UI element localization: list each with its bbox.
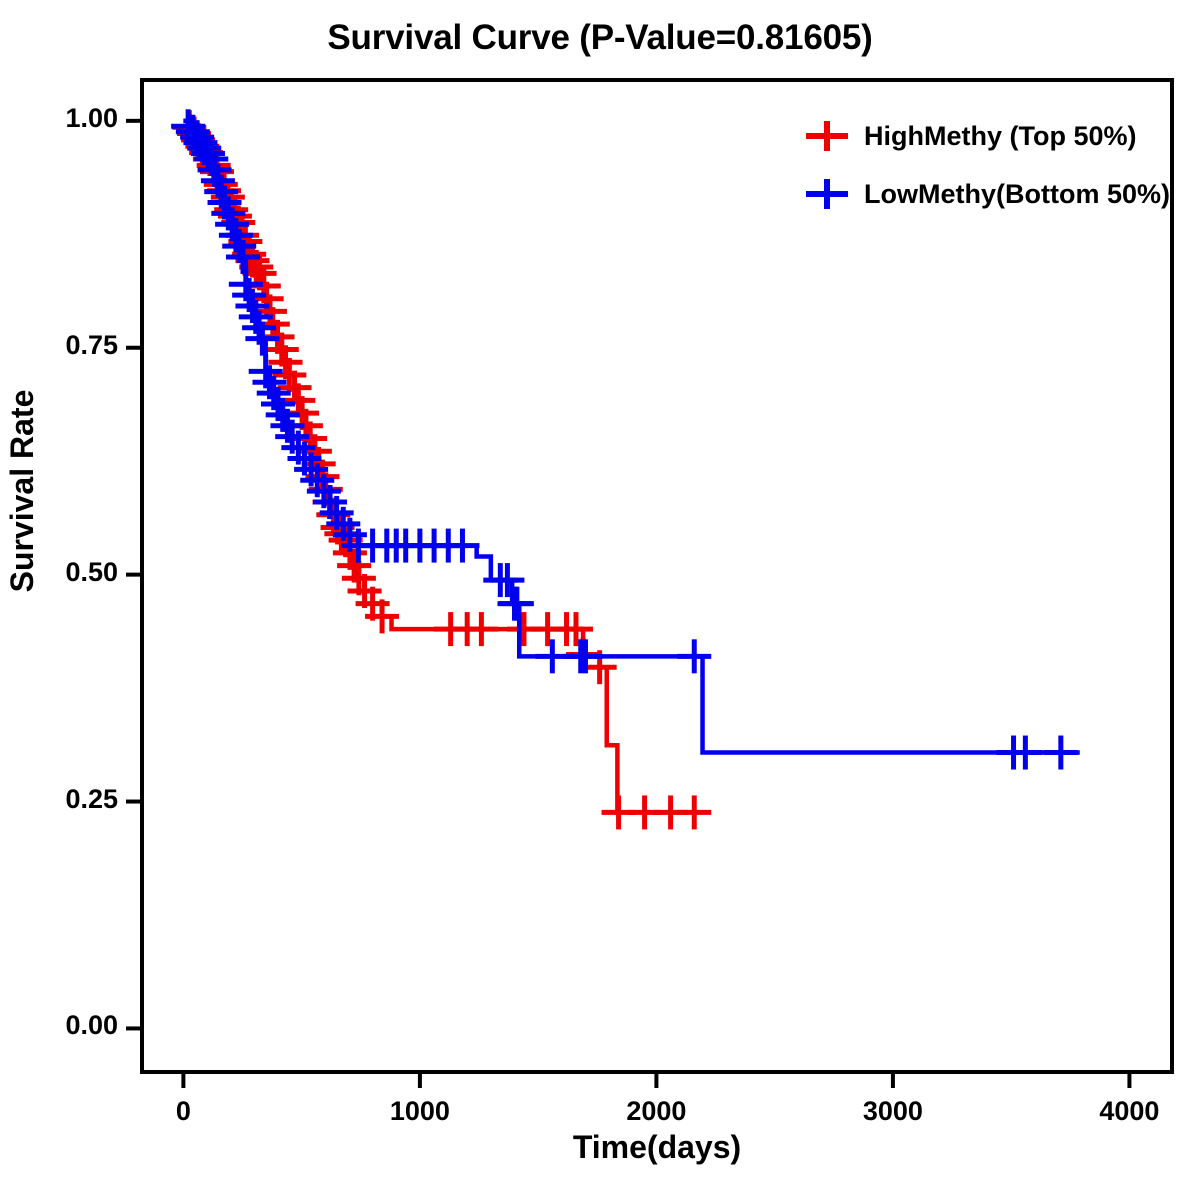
survival-curve-figure: Survival Curve (P-Value=0.81605) Surviva… xyxy=(0,0,1200,1200)
x-tick-label: 4000 xyxy=(1069,1096,1189,1127)
censor-marks xyxy=(172,110,711,829)
y-tick-label: 1.00 xyxy=(8,103,118,134)
survival-step-curve xyxy=(172,110,711,829)
y-tick-label: 0.25 xyxy=(8,784,118,815)
plus-marker-icon xyxy=(800,176,854,212)
x-tick-label: 1000 xyxy=(360,1096,480,1127)
x-axis-label: Time(days) xyxy=(142,1129,1172,1166)
x-tick-label: 2000 xyxy=(596,1096,716,1127)
legend-label: LowMethy(Bottom 50%) xyxy=(864,179,1170,210)
legend-item[interactable]: HighMethy (Top 50%) xyxy=(800,114,1170,158)
y-tick-label: 0.00 xyxy=(8,1010,118,1041)
legend-item[interactable]: LowMethy(Bottom 50%) xyxy=(800,172,1170,216)
legend-label: HighMethy (Top 50%) xyxy=(864,121,1137,152)
y-tick-label: 0.75 xyxy=(8,330,118,361)
page-title: Survival Curve (P-Value=0.81605) xyxy=(0,18,1200,58)
y-tick-label: 0.50 xyxy=(8,557,118,588)
plus-marker-icon xyxy=(800,118,854,154)
x-tick-label: 0 xyxy=(123,1096,243,1127)
axis-ticks xyxy=(126,121,1129,1088)
x-tick-label: 3000 xyxy=(833,1096,953,1127)
chart-legend: HighMethy (Top 50%) LowMethy(Bottom 50%) xyxy=(800,114,1170,230)
